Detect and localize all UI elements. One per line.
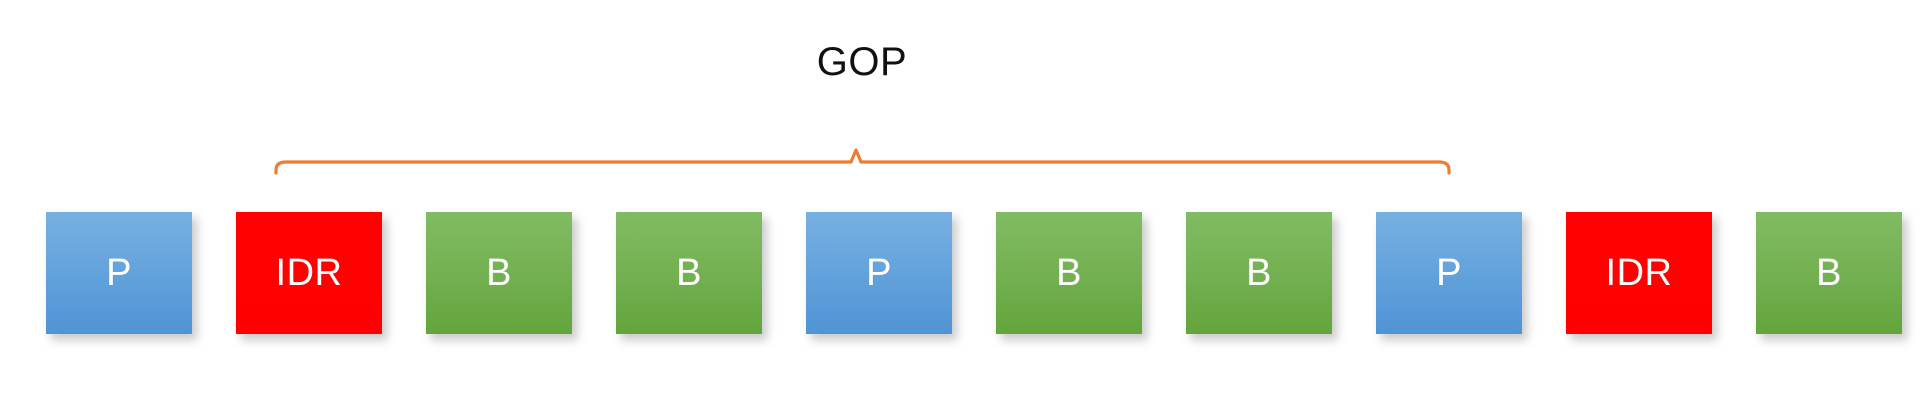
frame-box[interactable]: P <box>806 212 952 334</box>
frame-box-label: B <box>1056 254 1082 292</box>
frame-box-label: P <box>106 254 132 292</box>
frame-box-label: B <box>676 254 702 292</box>
frame-box[interactable]: B <box>1756 212 1902 334</box>
frame-box[interactable]: B <box>426 212 572 334</box>
frame-box-label: B <box>486 254 512 292</box>
frame-box-label: P <box>1436 254 1462 292</box>
frame-box-label: P <box>866 254 892 292</box>
frame-box[interactable]: B <box>1186 212 1332 334</box>
frame-box[interactable]: IDR <box>1566 212 1712 334</box>
frame-box[interactable]: B <box>616 212 762 334</box>
frame-sequence: PIDRBBPBBPIDRB <box>46 212 1902 334</box>
frame-box[interactable]: IDR <box>236 212 382 334</box>
gop-label-text: GOP <box>817 40 907 84</box>
gop-label: GOP <box>0 38 1920 86</box>
frame-box-label: B <box>1816 254 1842 292</box>
frame-box-label: IDR <box>1606 254 1673 292</box>
gop-diagram-canvas: GOP PIDRBBPBBPIDRB <box>0 0 1920 416</box>
frame-box-label: IDR <box>276 254 343 292</box>
frame-box-label: B <box>1246 254 1272 292</box>
frame-box[interactable]: P <box>46 212 192 334</box>
frame-box[interactable]: P <box>1376 212 1522 334</box>
frame-box[interactable]: B <box>996 212 1142 334</box>
gop-bracket-icon <box>265 110 1460 175</box>
